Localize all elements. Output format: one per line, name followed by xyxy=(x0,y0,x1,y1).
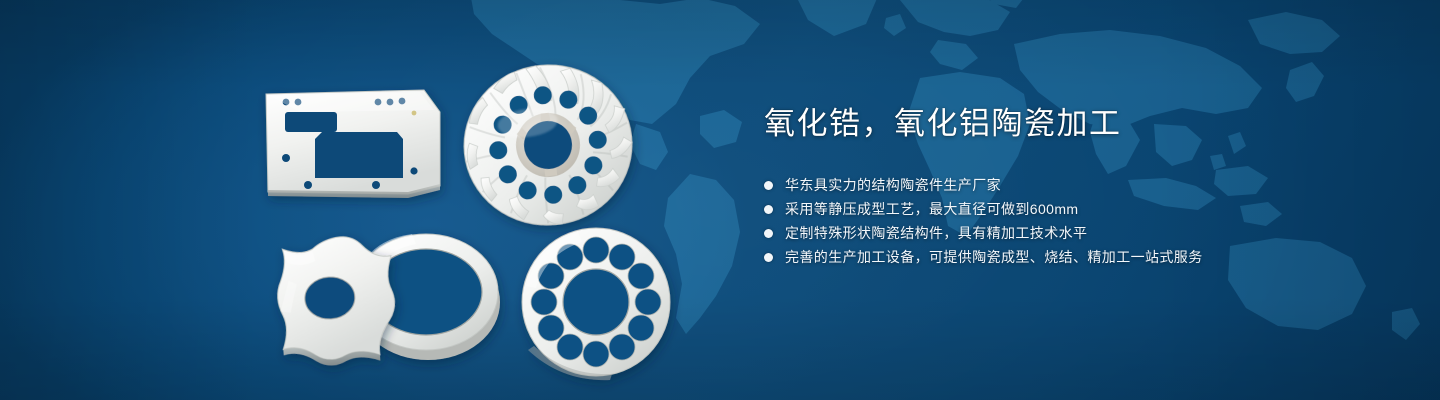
feature-text: 定制特殊形状陶瓷结构件，具有精加工技术水平 xyxy=(785,221,1087,245)
list-item: 华东具实力的结构陶瓷件生产厂家 xyxy=(764,173,1384,197)
feature-text: 华东具实力的结构陶瓷件生产厂家 xyxy=(785,173,1001,197)
ceramic-plate-shape xyxy=(266,90,440,198)
list-item: 定制特殊形状陶瓷结构件，具有精加工技术水平 xyxy=(764,221,1384,245)
feature-text: 采用等静压成型工艺，最大直径可做到600mm xyxy=(785,197,1078,221)
product-images xyxy=(0,0,760,400)
feature-list: 华东具实力的结构陶瓷件生产厂家 采用等静压成型工艺，最大直径可做到600mm 定… xyxy=(764,173,1384,269)
feature-text: 完善的生产加工设备，可提供陶瓷成型、烧结、精加工一站式服务 xyxy=(785,245,1203,269)
ceramic-impeller-shape xyxy=(456,57,640,234)
bullet-dot-icon xyxy=(764,253,773,262)
ceramic-hole-disc-shape xyxy=(522,228,670,380)
page-title: 氧化锆，氧化铝陶瓷加工 xyxy=(764,104,1384,144)
bullet-dot-icon xyxy=(764,181,773,190)
list-item: 采用等静压成型工艺，最大直径可做到600mm xyxy=(764,197,1384,221)
promo-banner: 氧化锆，氧化铝陶瓷加工 华东具实力的结构陶瓷件生产厂家 采用等静压成型工艺，最大… xyxy=(0,0,1440,400)
list-item: 完善的生产加工设备，可提供陶瓷成型、烧结、精加工一站式服务 xyxy=(764,245,1384,269)
bullet-dot-icon xyxy=(764,229,773,238)
bullet-dot-icon xyxy=(764,205,773,214)
banner-copy: 氧化锆，氧化铝陶瓷加工 华东具实力的结构陶瓷件生产厂家 采用等静压成型工艺，最大… xyxy=(764,104,1384,269)
